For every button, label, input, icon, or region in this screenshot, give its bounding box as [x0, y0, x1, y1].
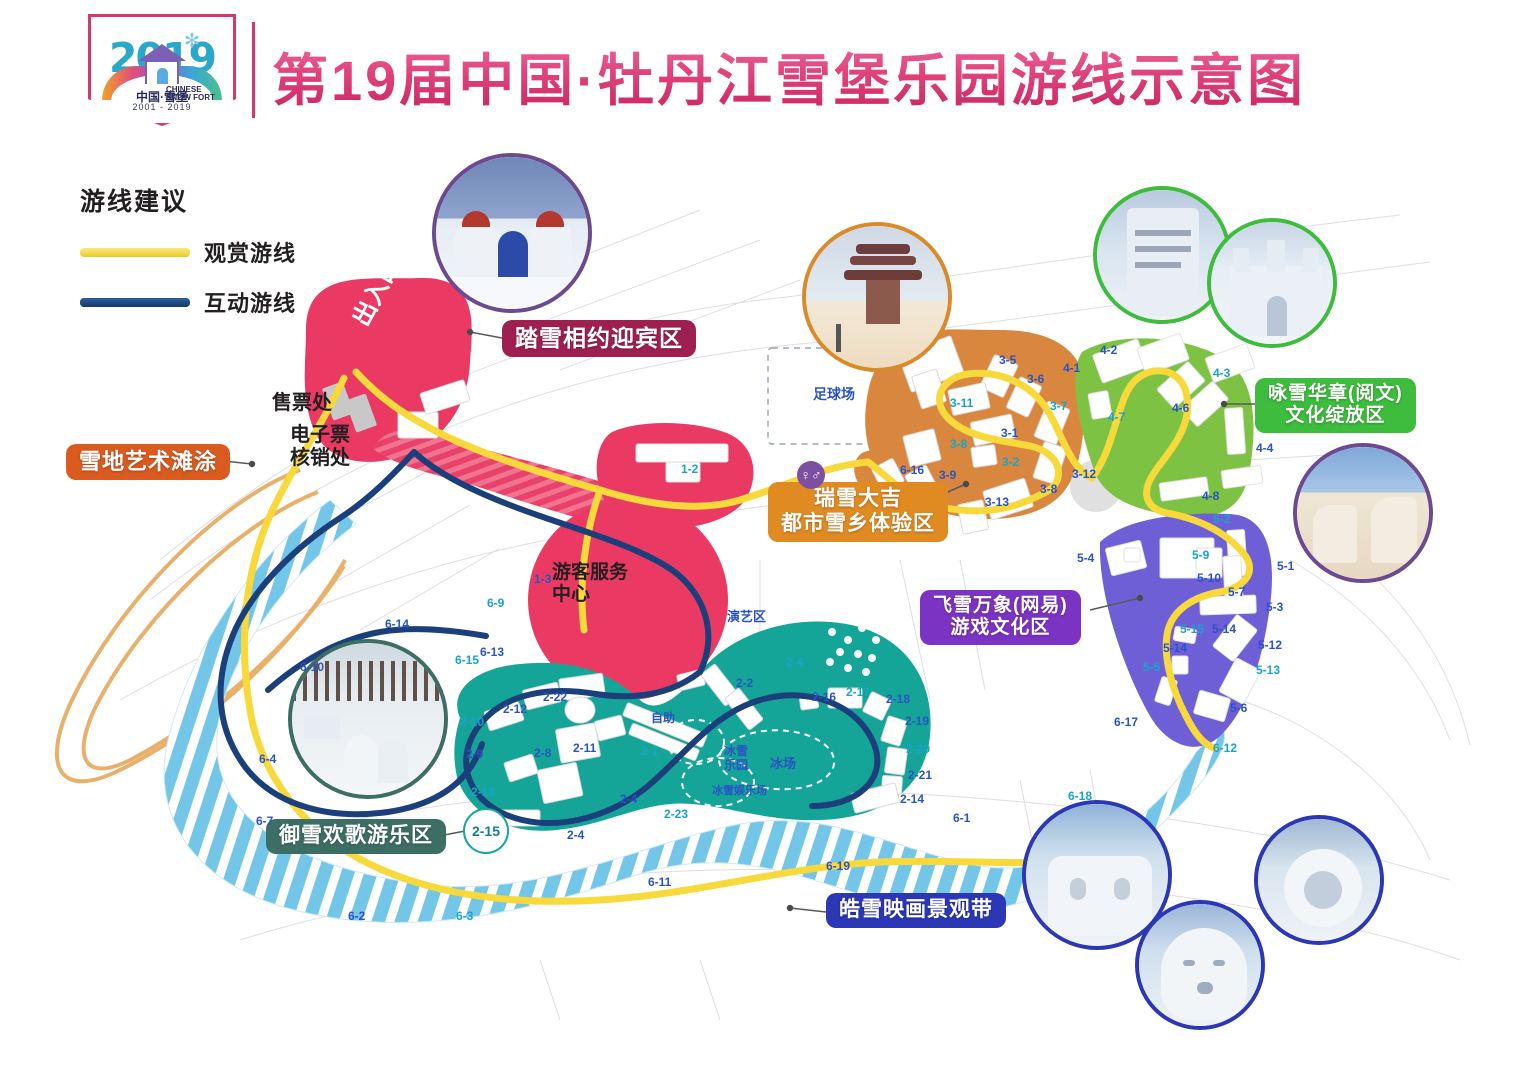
map-marker-5-13[interactable]: 5-13: [1256, 663, 1280, 677]
map-marker-6-1[interactable]: 6-1: [953, 811, 970, 825]
logo-en-name: CHINESE SNOW FORT: [166, 86, 215, 102]
map-marker-2-8[interactable]: 2-8: [534, 746, 551, 760]
map-marker-5-3[interactable]: 5-3: [1266, 600, 1283, 614]
snow-fort-park-map: 2019 ✻ 中国·雪堡 CHINESE SNOW FORT 2001 - 20…: [0, 0, 1526, 1080]
map-marker-5-15[interactable]: 5-15: [1180, 622, 1204, 636]
map-marker-6-10[interactable]: 6-10: [300, 660, 324, 674]
map-marker-2-2[interactable]: 2-2: [736, 676, 753, 690]
zone-label-feixue[interactable]: 飞雪万象(网易) 游戏文化区: [920, 590, 1081, 645]
map-marker-2-22[interactable]: 2-22: [543, 690, 567, 704]
event-logo: 2019 ✻ 中国·雪堡 CHINESE SNOW FORT 2001 - 20…: [88, 14, 236, 126]
map-marker-2-12[interactable]: 2-12: [503, 702, 527, 716]
legend-swatch-yellow: [80, 248, 190, 257]
map-marker-3-1[interactable]: 3-1: [1001, 426, 1018, 440]
map-marker-5-10[interactable]: 5-10: [1197, 571, 1221, 585]
map-marker-3-2[interactable]: 3-2: [1002, 455, 1019, 469]
zone-label-haoxue[interactable]: 皓雪映画景观带: [826, 893, 1006, 928]
map-marker-4-7[interactable]: 4-7: [1108, 410, 1125, 424]
zone-label-yongxue[interactable]: 咏雪华章(阅文) 文化绽放区: [1255, 378, 1416, 433]
map-marker-2-23[interactable]: 2-23: [664, 807, 688, 821]
map-marker-2-4[interactable]: 2-4: [567, 828, 584, 842]
map-marker-6-17[interactable]: 6-17: [1114, 715, 1138, 729]
map-text-6: 冰场: [770, 757, 796, 772]
map-marker-3-12[interactable]: 3-12: [1072, 467, 1096, 481]
zone-label-welcome[interactable]: 踏雪相约迎宾区: [502, 320, 696, 357]
map-marker-4-1[interactable]: 4-1: [1063, 361, 1080, 375]
map-text-1: 售票处: [272, 392, 332, 415]
map-marker-5-2[interactable]: 5-2: [1213, 512, 1230, 526]
map-marker-3-9[interactable]: 3-9: [939, 468, 956, 482]
map-marker-4-6[interactable]: 4-6: [1172, 401, 1189, 415]
map-marker-2-13[interactable]: 2-13: [471, 785, 495, 799]
snow-house-icon: [138, 44, 186, 84]
map-marker-3-7[interactable]: 3-7: [1050, 399, 1067, 413]
snow-castle-photo[interactable]: [1207, 218, 1337, 348]
map-marker-1-2[interactable]: 1-2: [681, 462, 698, 476]
map-marker-2-15[interactable]: 2-15: [463, 808, 509, 854]
title-divider: [252, 22, 255, 118]
map-marker-5-14[interactable]: 5-14: [1163, 641, 1187, 655]
map-marker-3-13[interactable]: 3-13: [985, 495, 1009, 509]
map-marker-3-8[interactable]: 3-8: [1040, 482, 1057, 496]
map-marker-5-12[interactable]: 5-12: [1258, 638, 1282, 652]
map-marker-4-8[interactable]: 4-8: [1202, 489, 1219, 503]
map-text-3: 游客服务 中心: [552, 562, 628, 606]
map-text-4: 足球场: [813, 386, 855, 402]
map-marker-6-11[interactable]: 6-11: [648, 875, 671, 889]
logo-year-range: 2001 - 2019: [88, 102, 236, 112]
map-text-7: 自助: [651, 712, 675, 726]
map-marker-2-9[interactable]: 2-9: [466, 747, 483, 761]
snow-tunnel-photo[interactable]: [1254, 815, 1384, 945]
map-text-9: 冰雪娱乐场: [712, 785, 767, 798]
map-marker-6-7[interactable]: 6-7: [256, 814, 273, 828]
zone-label-ruixue[interactable]: 瑞雪大吉 都市雪乡体验区: [768, 482, 948, 542]
map-marker-5-9[interactable]: 5-9: [1192, 548, 1209, 562]
map-marker-2-4[interactable]: 2-4: [786, 655, 803, 669]
map-marker-3-5[interactable]: 3-5: [999, 353, 1016, 367]
map-marker-5-6[interactable]: 5-6: [1230, 701, 1247, 715]
map-marker-2-21[interactable]: 2-21: [908, 768, 932, 782]
map-marker-2-20[interactable]: 2-20: [906, 742, 930, 756]
map-marker-6-9[interactable]: 6-9: [487, 596, 504, 610]
map-marker-2-10[interactable]: 2-10: [460, 715, 484, 729]
legend: 游线建议 观赏游线 互动游线: [80, 182, 296, 318]
map-marker-6-18[interactable]: 6-18: [1068, 789, 1092, 803]
map-text-8: 冰雪 乐园: [724, 745, 748, 773]
map-marker-5-1[interactable]: 5-1: [1277, 559, 1294, 573]
map-marker-2-19[interactable]: 2-19: [905, 714, 929, 728]
map-marker-5-14[interactable]: 5-14: [1212, 622, 1236, 636]
map-marker-6-13[interactable]: 6-13: [480, 645, 504, 659]
map-marker-3-6[interactable]: 3-6: [1027, 372, 1044, 386]
map-marker-2-14[interactable]: 2-14: [900, 792, 924, 806]
map-marker-6-12[interactable]: 6-12: [1213, 741, 1237, 755]
legend-label-sightseeing: 观赏游线: [204, 236, 296, 268]
map-marker-3-8[interactable]: 3-8: [950, 437, 967, 451]
restroom-icon: ♀♂: [797, 461, 825, 489]
map-marker-2-18[interactable]: 2-18: [886, 692, 910, 706]
legend-swatch-blue: [80, 298, 190, 307]
zone-label-snowart[interactable]: 雪地艺术滩涂: [66, 444, 230, 480]
snow-relief-photo[interactable]: [1293, 443, 1433, 583]
map-marker-6-3[interactable]: 6-3: [456, 909, 473, 923]
snow-pavilion-photo[interactable]: [802, 222, 952, 372]
map-text-2: 电子票 核销处: [290, 424, 350, 470]
legend-title: 游线建议: [80, 182, 296, 218]
zone-label-yuxue[interactable]: 御雪欢歌游乐区: [266, 819, 446, 854]
map-marker-2-1[interactable]: 2-1: [641, 744, 658, 758]
snow-face-photo[interactable]: [1135, 900, 1265, 1030]
map-marker-1-3[interactable]: 1-3: [534, 572, 551, 586]
map-marker-6-16[interactable]: 6-16: [900, 463, 924, 477]
legend-label-interactive: 互动游线: [204, 286, 296, 318]
map-marker-6-14[interactable]: 6-14: [385, 617, 409, 631]
map-marker-2-4[interactable]: 2-4: [620, 792, 637, 806]
legend-item-interactive: 互动游线: [80, 286, 296, 318]
map-marker-2-11[interactable]: 2-11: [573, 741, 596, 755]
map-marker-2-16[interactable]: 2-16: [812, 690, 836, 704]
legend-item-sightseeing: 观赏游线: [80, 236, 296, 268]
map-text-5: 演艺区: [727, 610, 766, 625]
map-marker-4-4[interactable]: 4-4: [1256, 441, 1273, 455]
map-marker-6-19[interactable]: 6-19: [826, 859, 850, 873]
map-marker-4-3[interactable]: 4-3: [1213, 366, 1230, 380]
map-marker-6-4[interactable]: 6-4: [259, 752, 276, 766]
snowflake-icon: ✻: [184, 30, 200, 53]
map-marker-6-2[interactable]: 6-2: [348, 909, 365, 923]
map-marker-5-5[interactable]: 5-5: [1143, 660, 1160, 674]
map-marker-5-4[interactable]: 5-4: [1077, 551, 1094, 565]
map-marker-4-2[interactable]: 4-2: [1100, 343, 1117, 357]
map-marker-6-15[interactable]: 6-15: [455, 653, 479, 667]
page-title: 第19届中国·牡丹江雪堡乐园游线示意图: [272, 36, 1306, 117]
snow-castle-gate-photo[interactable]: [432, 153, 592, 313]
map-marker-2-17[interactable]: 2-17: [846, 685, 870, 699]
map-marker-3-11[interactable]: 3-11: [950, 396, 973, 410]
map-marker-5-7[interactable]: 5-7: [1228, 585, 1245, 599]
